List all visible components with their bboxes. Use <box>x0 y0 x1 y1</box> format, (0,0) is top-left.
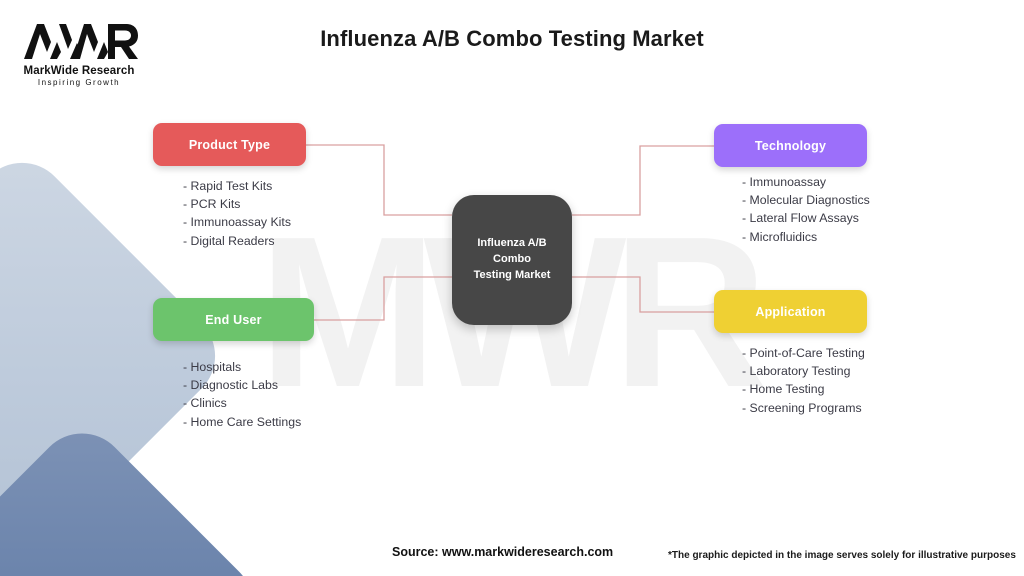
center-hub-label-line1: Influenza A/B Combo <box>477 237 546 265</box>
list-item: - Molecular Diagnostics <box>742 191 870 209</box>
list-item: - Home Care Settings <box>183 413 301 431</box>
branch-node-technology[interactable]: Technology <box>714 124 867 167</box>
branch-label-product-type: Product Type <box>189 138 270 152</box>
page-title: Influenza A/B Combo Testing Market <box>0 26 1024 52</box>
source-attribution: Source: www.markwideresearch.com <box>392 545 613 559</box>
branch-items-technology: - Immunoassay - Molecular Diagnostics - … <box>742 173 870 246</box>
branch-label-technology: Technology <box>755 139 826 153</box>
list-item: - Laboratory Testing <box>742 362 865 380</box>
list-item: - Immunoassay Kits <box>183 213 291 231</box>
center-hub-node[interactable]: Influenza A/B Combo Testing Market <box>452 195 572 325</box>
list-item: - Screening Programs <box>742 399 865 417</box>
list-item: - Clinics <box>183 394 301 412</box>
brand-tagline: Inspiring Growth <box>14 78 144 87</box>
list-item: - Hospitals <box>183 358 301 376</box>
brand-name: MarkWide Research <box>14 65 144 77</box>
list-item: - Home Testing <box>742 380 865 398</box>
branch-items-application: - Point-of-Care Testing - Laboratory Tes… <box>742 344 865 417</box>
branch-node-end-user[interactable]: End User <box>153 298 314 341</box>
branch-node-application[interactable]: Application <box>714 290 867 333</box>
list-item: - Diagnostic Labs <box>183 376 301 394</box>
branch-items-end-user: - Hospitals - Diagnostic Labs - Clinics … <box>183 358 301 431</box>
branch-node-product-type[interactable]: Product Type <box>153 123 306 166</box>
disclaimer-note: *The graphic depicted in the image serve… <box>668 550 1016 561</box>
list-item: - Lateral Flow Assays <box>742 209 870 227</box>
center-hub-label: Influenza A/B Combo Testing Market <box>452 236 572 284</box>
list-item: - Point-of-Care Testing <box>742 344 865 362</box>
list-item: - Microfluidics <box>742 228 870 246</box>
list-item: - Digital Readers <box>183 232 291 250</box>
list-item: - Rapid Test Kits <box>183 177 291 195</box>
branch-label-end-user: End User <box>205 313 261 327</box>
diagram-canvas: MWR MarkWide Research Inspiring Growth I… <box>0 0 1024 576</box>
list-item: - Immunoassay <box>742 173 870 191</box>
list-item: - PCR Kits <box>183 195 291 213</box>
branch-label-application: Application <box>755 305 825 319</box>
center-hub-label-line2: Testing Market <box>474 269 551 281</box>
branch-items-product-type: - Rapid Test Kits - PCR Kits - Immunoass… <box>183 177 291 250</box>
